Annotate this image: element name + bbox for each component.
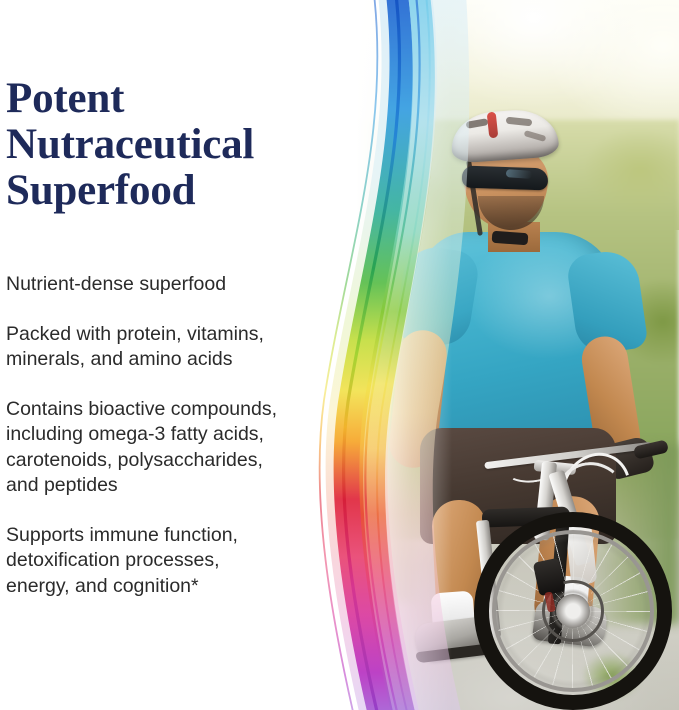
bullet-line: carotenoids, polysaccharides, — [6, 448, 332, 474]
text-panel: Potent Nutraceutical Superfood Nutrient-… — [0, 0, 340, 710]
product-benefits-banner: Potent Nutraceutical Superfood Nutrient-… — [0, 0, 679, 710]
bullet-nutrient-dense: Nutrient-dense superfood — [6, 272, 332, 298]
bullet-immune-support: Supports immune function, detoxification… — [6, 523, 332, 600]
bike-hub — [556, 594, 590, 628]
bullet-line: Supports immune function, — [6, 523, 332, 549]
headline-line-1: Potent — [6, 76, 336, 122]
sunglasses-glare — [506, 169, 532, 179]
helmet-strap-buckle — [492, 231, 529, 245]
benefits-list: Nutrient-dense superfood Packed with pro… — [6, 272, 332, 599]
bullet-line: Contains bioactive compounds, — [6, 397, 332, 423]
grass-edge-left — [356, 452, 420, 602]
bullet-line: energy, and cognition* — [6, 574, 332, 600]
bullet-protein-vitamins: Packed with protein, vitamins, minerals,… — [6, 322, 332, 373]
page-title: Potent Nutraceutical Superfood — [6, 76, 336, 214]
bullet-bioactive-compounds: Contains bioactive compounds, including … — [6, 397, 332, 499]
bullet-line: minerals, and amino acids — [6, 347, 332, 373]
bullet-line: Nutrient-dense superfood — [6, 272, 332, 298]
headline-line-2: Nutraceutical — [6, 122, 336, 168]
cyclist-photo — [356, 0, 679, 710]
bullet-line: including omega-3 fatty acids, — [6, 422, 332, 448]
bullet-line: and peptides — [6, 473, 332, 499]
bullet-line: Packed with protein, vitamins, — [6, 322, 332, 348]
headline-line-3: Superfood — [6, 168, 336, 214]
bullet-line: detoxification processes, — [6, 548, 332, 574]
rider-sunglasses — [462, 166, 549, 191]
